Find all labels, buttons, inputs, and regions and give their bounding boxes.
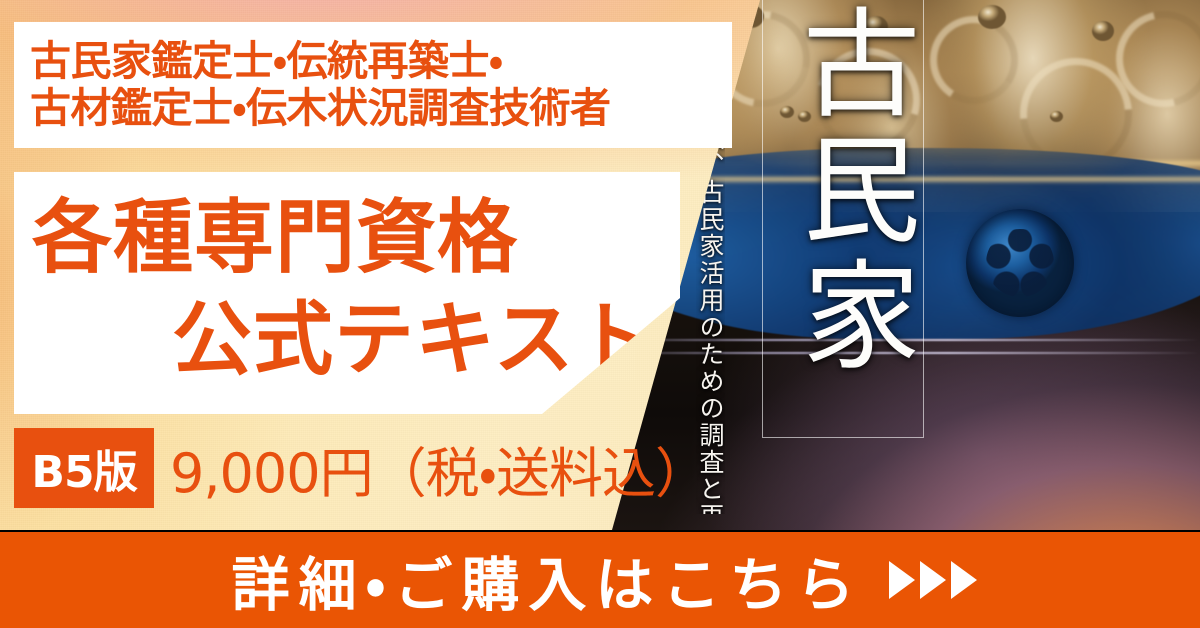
main-headline-card: 各種専門資格 公式テキスト <box>14 172 680 414</box>
qualifications-line-1: 古民家鑑定士・伝統再築士・ <box>30 38 732 85</box>
cta-label: 詳細・ご購入はこちら <box>223 538 864 622</box>
headline-line-1: 各種専門資格 <box>32 198 518 278</box>
family-crest-medallion <box>966 209 1074 317</box>
price-text: 9,000円（税・送料込） <box>170 429 708 508</box>
triangle-right-icon <box>951 561 977 599</box>
triangle-right-icon <box>889 561 915 599</box>
headline-line-2: 公式テキスト <box>172 300 656 380</box>
cta-bar[interactable]: 詳細・ご購入はこちら <box>0 532 1200 628</box>
price-row: B5版 9,000円（税・送料込） <box>14 428 708 508</box>
promo-banner: 古民家 伝統構法、古民家活用のための調査と再生の 古民家鑑定士・伝統再築士・ 古… <box>0 0 1200 628</box>
cover-title-text: 古民家 <box>768 2 918 380</box>
qualifications-line-2: 古材鑑定士・伝木状況調査技術者 <box>30 85 732 132</box>
triangle-right-icon <box>920 561 946 599</box>
format-badge: B5版 <box>14 428 154 508</box>
qualifications-card: 古民家鑑定士・伝統再築士・ 古材鑑定士・伝木状況調査技術者 <box>14 22 732 148</box>
cta-arrows <box>889 561 977 599</box>
